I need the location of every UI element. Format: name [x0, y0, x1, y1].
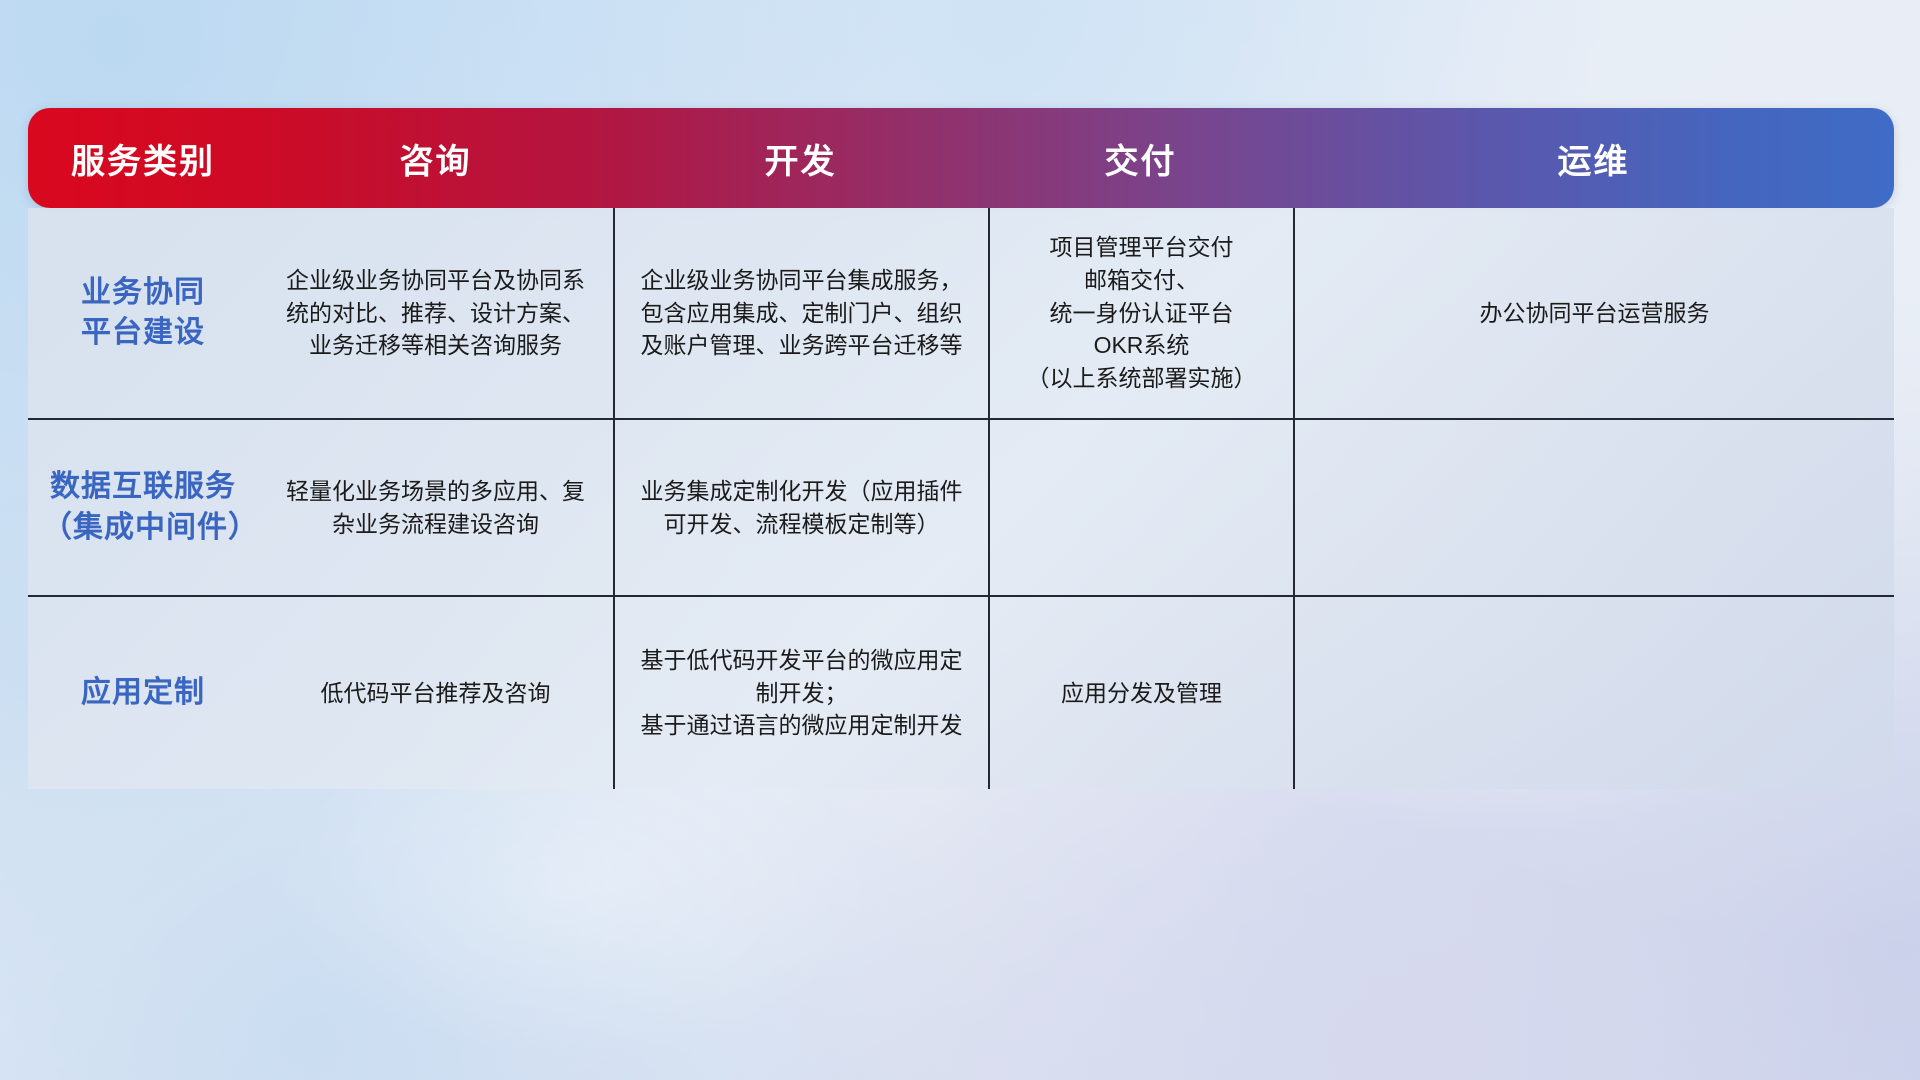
table-body: 业务协同 平台建设 企业级业务协同平台及协同系 统的对比、推荐、设计方案、 业务… — [28, 208, 1894, 789]
row-category-label-2: 数据互联服务 （集成中间件） — [28, 420, 258, 595]
header-cell-development: 开发 — [613, 134, 988, 183]
cell-development-3: 基于低代码开发平台的微应用定 制开发； 基于通过语言的微应用定制开发 — [613, 597, 988, 789]
table-row: 应用定制 低代码平台推荐及咨询 基于低代码开发平台的微应用定 制开发； 基于通过… — [28, 595, 1894, 789]
cell-operations-1: 办公协同平台运营服务 — [1293, 208, 1894, 418]
row-category-label-3: 应用定制 — [28, 597, 258, 789]
table-row: 业务协同 平台建设 企业级业务协同平台及协同系 统的对比、推荐、设计方案、 业务… — [28, 208, 1894, 418]
header-cell-consulting: 咨询 — [258, 134, 613, 183]
cell-delivery-2 — [988, 420, 1293, 595]
table-header-row: 服务类别 咨询 开发 交付 运维 — [28, 108, 1894, 208]
cell-consulting-3: 低代码平台推荐及咨询 — [258, 597, 613, 789]
service-category-table: 服务类别 咨询 开发 交付 运维 业务协同 平台建设 企业级业务协同平台及协同系… — [28, 108, 1894, 788]
header-cell-delivery: 交付 — [988, 134, 1293, 183]
cell-delivery-3: 应用分发及管理 — [988, 597, 1293, 789]
row-category-label-1: 业务协同 平台建设 — [28, 208, 258, 418]
cell-development-2: 业务集成定制化开发（应用插件 可开发、流程模板定制等） — [613, 420, 988, 595]
cell-delivery-1: 项目管理平台交付 邮箱交付、 统一身份认证平台 OKR系统 （以上系统部署实施） — [988, 208, 1293, 418]
cell-consulting-1: 企业级业务协同平台及协同系 统的对比、推荐、设计方案、 业务迁移等相关咨询服务 — [258, 208, 613, 418]
cell-consulting-2: 轻量化业务场景的多应用、复 杂业务流程建设咨询 — [258, 420, 613, 595]
header-cell-operations: 运维 — [1293, 134, 1894, 183]
cell-development-1: 企业级业务协同平台集成服务， 包含应用集成、定制门户、组织 及账户管理、业务跨平… — [613, 208, 988, 418]
table-row: 数据互联服务 （集成中间件） 轻量化业务场景的多应用、复 杂业务流程建设咨询 业… — [28, 418, 1894, 595]
cell-operations-3 — [1293, 597, 1894, 789]
header-cell-category: 服务类别 — [28, 134, 258, 183]
cell-operations-2 — [1293, 420, 1894, 595]
